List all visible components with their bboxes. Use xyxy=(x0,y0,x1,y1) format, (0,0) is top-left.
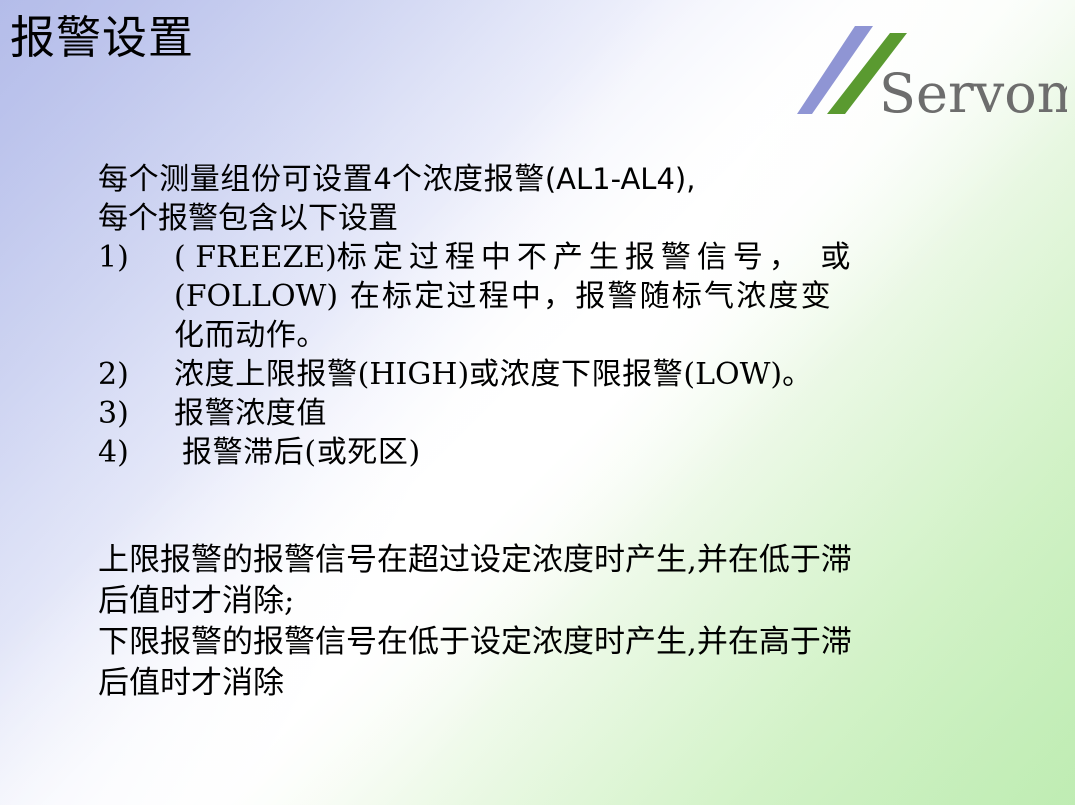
list-item-text: 报警浓度值 xyxy=(174,394,1003,433)
list-item-2-text-b: 或浓度下限报警 xyxy=(469,357,683,392)
list-item-number: 2) xyxy=(98,355,174,394)
list-item-2-text-a: 浓度上限报警 xyxy=(174,357,358,392)
paragraph-2-line-2: 后值时才消除 xyxy=(98,663,998,704)
intro-line-2: 每个报警包含以下设置 xyxy=(98,199,1003,238)
list-item: 1) ( FREEZE)标定过程中不产生报警信号， 或 xyxy=(98,238,1003,277)
logo-wordmark-text: Servomex xyxy=(879,62,1067,125)
intro-line-1-part-2: 个浓度报警 xyxy=(392,162,545,197)
intro-line-1: 每个测量组份可设置4个浓度报警(AL1-AL4), xyxy=(98,160,1003,199)
list-item: 2) 浓度上限报警(HIGH)或浓度下限报警(LOW)。 xyxy=(98,355,1003,394)
list-item-1-code-freeze: ( FREEZE) xyxy=(174,240,337,275)
list-item: 3) 报警浓度值 xyxy=(98,394,1003,433)
list-item-1-line-1-text: 标定过程中不产生报警信号， 或 xyxy=(337,240,857,275)
explanation-paragraphs: 上限报警的报警信号在超过设定浓度时产生,并在低于滞 后值时才消除; 下限报警的报… xyxy=(98,540,998,704)
list-item-2-code-high: (HIGH) xyxy=(358,357,470,392)
list-item-text: ( FREEZE)标定过程中不产生报警信号， 或 xyxy=(174,238,1003,277)
list-item-number: 3) xyxy=(98,394,174,433)
paragraph-2-line-1: 下限报警的报警信号在低于设定浓度时产生,并在高于滞 xyxy=(98,622,998,663)
list-item-continuation: (FOLLOW) 在标定过程中，报警随标气浓度变 xyxy=(98,277,1003,316)
list-item-number: 1) xyxy=(98,238,174,277)
paragraph-1-line-2: 后值时才消除; xyxy=(98,581,998,622)
list-item: 4) 报警滞后(或死区) xyxy=(98,433,1003,472)
slide-title: 报警设置 xyxy=(10,10,194,66)
paragraph-1-line-1: 上限报警的报警信号在超过设定浓度时产生,并在低于滞 xyxy=(98,540,998,581)
list-item-1-code-follow: (FOLLOW) xyxy=(174,279,338,314)
intro-line-1-alarm-code: (AL1-AL4), xyxy=(545,162,696,196)
settings-list: 1) ( FREEZE)标定过程中不产生报警信号， 或 (FOLLOW) 在标定… xyxy=(98,238,1003,472)
list-item-text: 浓度上限报警(HIGH)或浓度下限报警(LOW)。 xyxy=(174,355,1003,394)
list-item-1-line-3-text: 化而动作。 xyxy=(174,318,327,353)
slide-body: 每个测量组份可设置4个浓度报警(AL1-AL4), 每个报警包含以下设置 1) … xyxy=(98,160,1003,472)
slide: 报警设置 Servomex 每个测量组份可设置4个浓度报警(AL1-AL4), … xyxy=(0,0,1075,805)
servomex-logo-graphic: Servomex xyxy=(795,18,1067,126)
list-item-2-text-c: 。 xyxy=(782,357,812,392)
intro-line-1-number: 4 xyxy=(373,162,391,196)
intro-line-1-part-1: 每个测量组份可设置 xyxy=(98,162,373,197)
list-item-2-code-low: (LOW) xyxy=(683,357,782,392)
list-item-1-line-2-text: 在标定过程中，报警随标气浓度变 xyxy=(338,279,833,314)
list-item-number: 4) xyxy=(98,433,174,472)
list-item-continuation: 化而动作。 xyxy=(98,316,1003,355)
servomex-logo: Servomex xyxy=(795,18,1067,126)
list-item-text: 报警滞后(或死区) xyxy=(174,433,1003,472)
